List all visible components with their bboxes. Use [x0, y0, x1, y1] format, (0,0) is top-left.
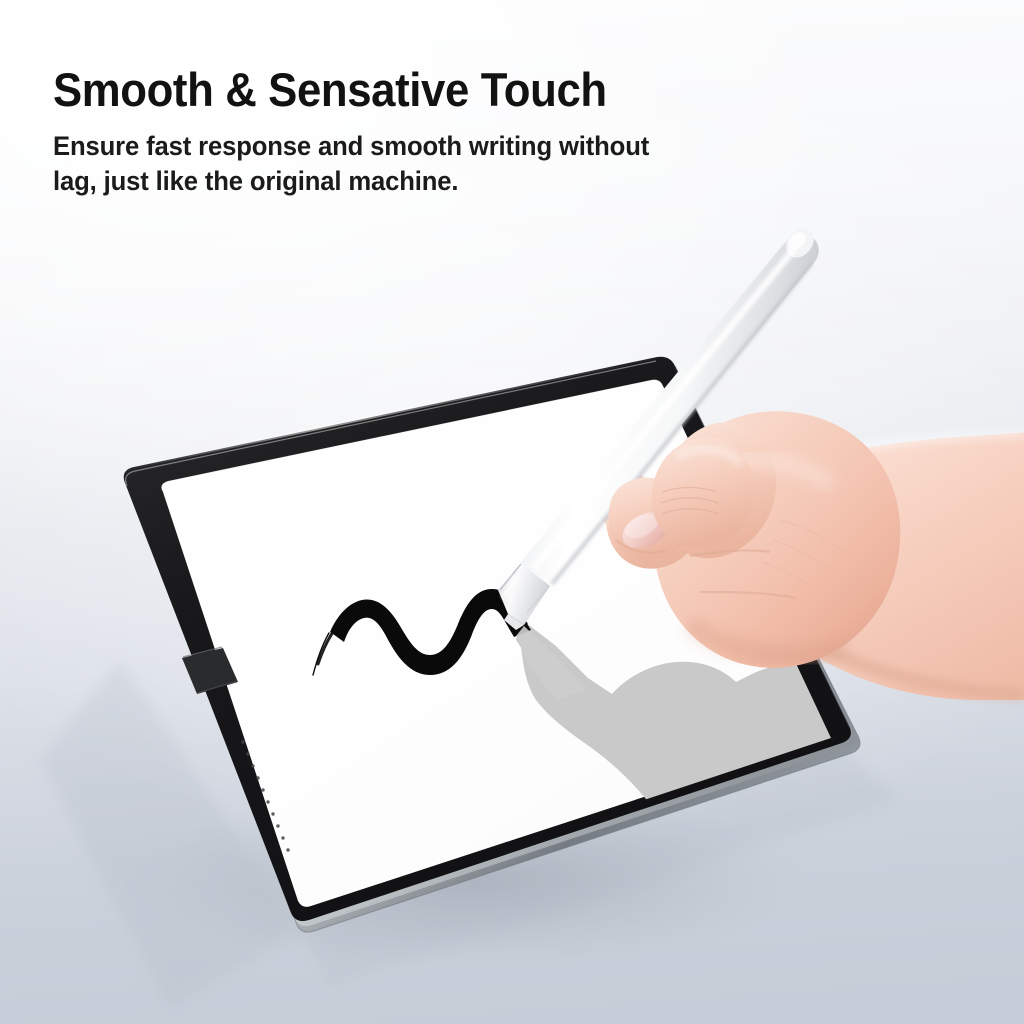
poster-canvas: Smooth & Sensative Touch Ensure fast res…	[0, 0, 1024, 1024]
product-scene	[0, 0, 1024, 1024]
scene-illustration	[0, 0, 1024, 1024]
